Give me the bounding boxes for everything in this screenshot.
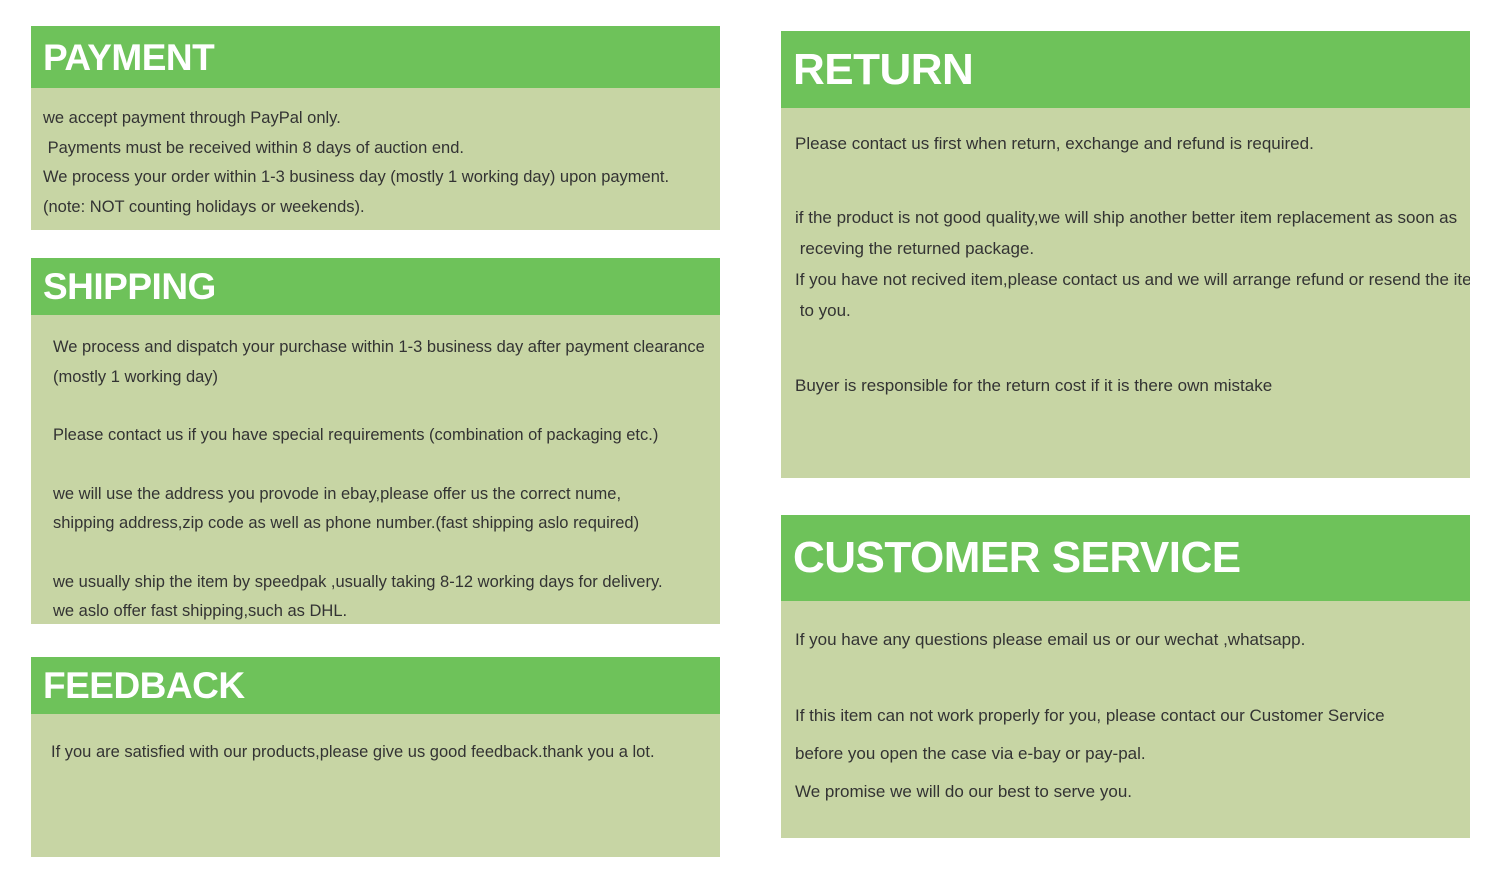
panel-feedback-header: FEEDBACK — [31, 657, 720, 714]
panel-payment: PAYMENT we accept payment through PayPal… — [31, 26, 720, 230]
panel-return-header: RETURN — [781, 31, 1470, 108]
shipping-spacer-3 — [53, 539, 708, 568]
payment-line-4: (note: NOT counting holidays or weekends… — [43, 193, 708, 223]
customer-service-line-1: If you have any questions please email u… — [795, 621, 1458, 659]
shipping-line-6: we usually ship the item by speedpak ,us… — [53, 568, 708, 598]
panel-shipping-title: SHIPPING — [43, 268, 216, 305]
panel-payment-body: we accept payment through PayPal only. P… — [31, 88, 720, 222]
shipping-spacer-1 — [53, 392, 708, 421]
customer-service-line-4: We promise we will do our best to serve … — [795, 773, 1458, 811]
panel-feedback-title: FEEDBACK — [43, 667, 245, 704]
panel-feedback: FEEDBACK If you are satisfied with our p… — [31, 657, 720, 857]
return-spacer-1 — [795, 159, 1458, 202]
return-line-4: If you have not recived item,please cont… — [795, 264, 1458, 295]
panel-shipping-body: We process and dispatch your purchase wi… — [31, 315, 720, 624]
shipping-line-4: we will use the address you provode in e… — [53, 480, 708, 510]
shipping-line-5: shipping address,zip code as well as pho… — [53, 509, 708, 539]
panel-return-body: Please contact us first when return, exc… — [781, 108, 1470, 401]
shipping-line-1: We process and dispatch your purchase wi… — [53, 333, 708, 363]
panel-feedback-body: If you are satisfied with our products,p… — [31, 714, 720, 768]
return-line-6: Buyer is responsible for the return cost… — [795, 370, 1458, 401]
return-spacer-2 — [795, 326, 1458, 370]
panel-payment-title: PAYMENT — [43, 39, 214, 76]
shipping-spacer-2 — [53, 451, 708, 480]
shipping-line-2: (mostly 1 working day) — [53, 363, 708, 393]
customer-service-spacer-1 — [795, 659, 1458, 697]
payment-line-1: we accept payment through PayPal only. — [43, 104, 708, 134]
return-line-3: receving the returned package. — [795, 233, 1458, 264]
panel-payment-header: PAYMENT — [31, 26, 720, 88]
payment-line-2: Payments must be received within 8 days … — [43, 134, 708, 164]
shipping-line-7: we aslo offer fast shipping,such as DHL. — [53, 597, 708, 624]
payment-line-3: We process your order within 1-3 busines… — [43, 163, 708, 193]
customer-service-line-2: If this item can not work properly for y… — [795, 697, 1458, 735]
shipping-line-3: Please contact us if you have special re… — [53, 421, 708, 451]
seller-policy-page: PAYMENT we accept payment through PayPal… — [0, 0, 1500, 882]
panel-return: RETURN Please contact us first when retu… — [781, 31, 1470, 478]
panel-customer-service: CUSTOMER SERVICE If you have any questio… — [781, 515, 1470, 838]
panel-customer-service-header: CUSTOMER SERVICE — [781, 515, 1470, 601]
panel-customer-service-body: If you have any questions please email u… — [781, 601, 1470, 811]
customer-service-line-3: before you open the case via e-bay or pa… — [795, 735, 1458, 773]
panel-shipping: SHIPPING We process and dispatch your pu… — [31, 258, 720, 624]
panel-shipping-header: SHIPPING — [31, 258, 720, 315]
return-line-5: to you. — [795, 295, 1458, 326]
return-line-1: Please contact us first when return, exc… — [795, 128, 1458, 159]
return-line-2: if the product is not good quality,we wi… — [795, 202, 1458, 233]
feedback-line-1: If you are satisfied with our products,p… — [51, 738, 708, 768]
panel-return-title: RETURN — [793, 48, 973, 92]
panel-customer-service-title: CUSTOMER SERVICE — [793, 536, 1241, 580]
